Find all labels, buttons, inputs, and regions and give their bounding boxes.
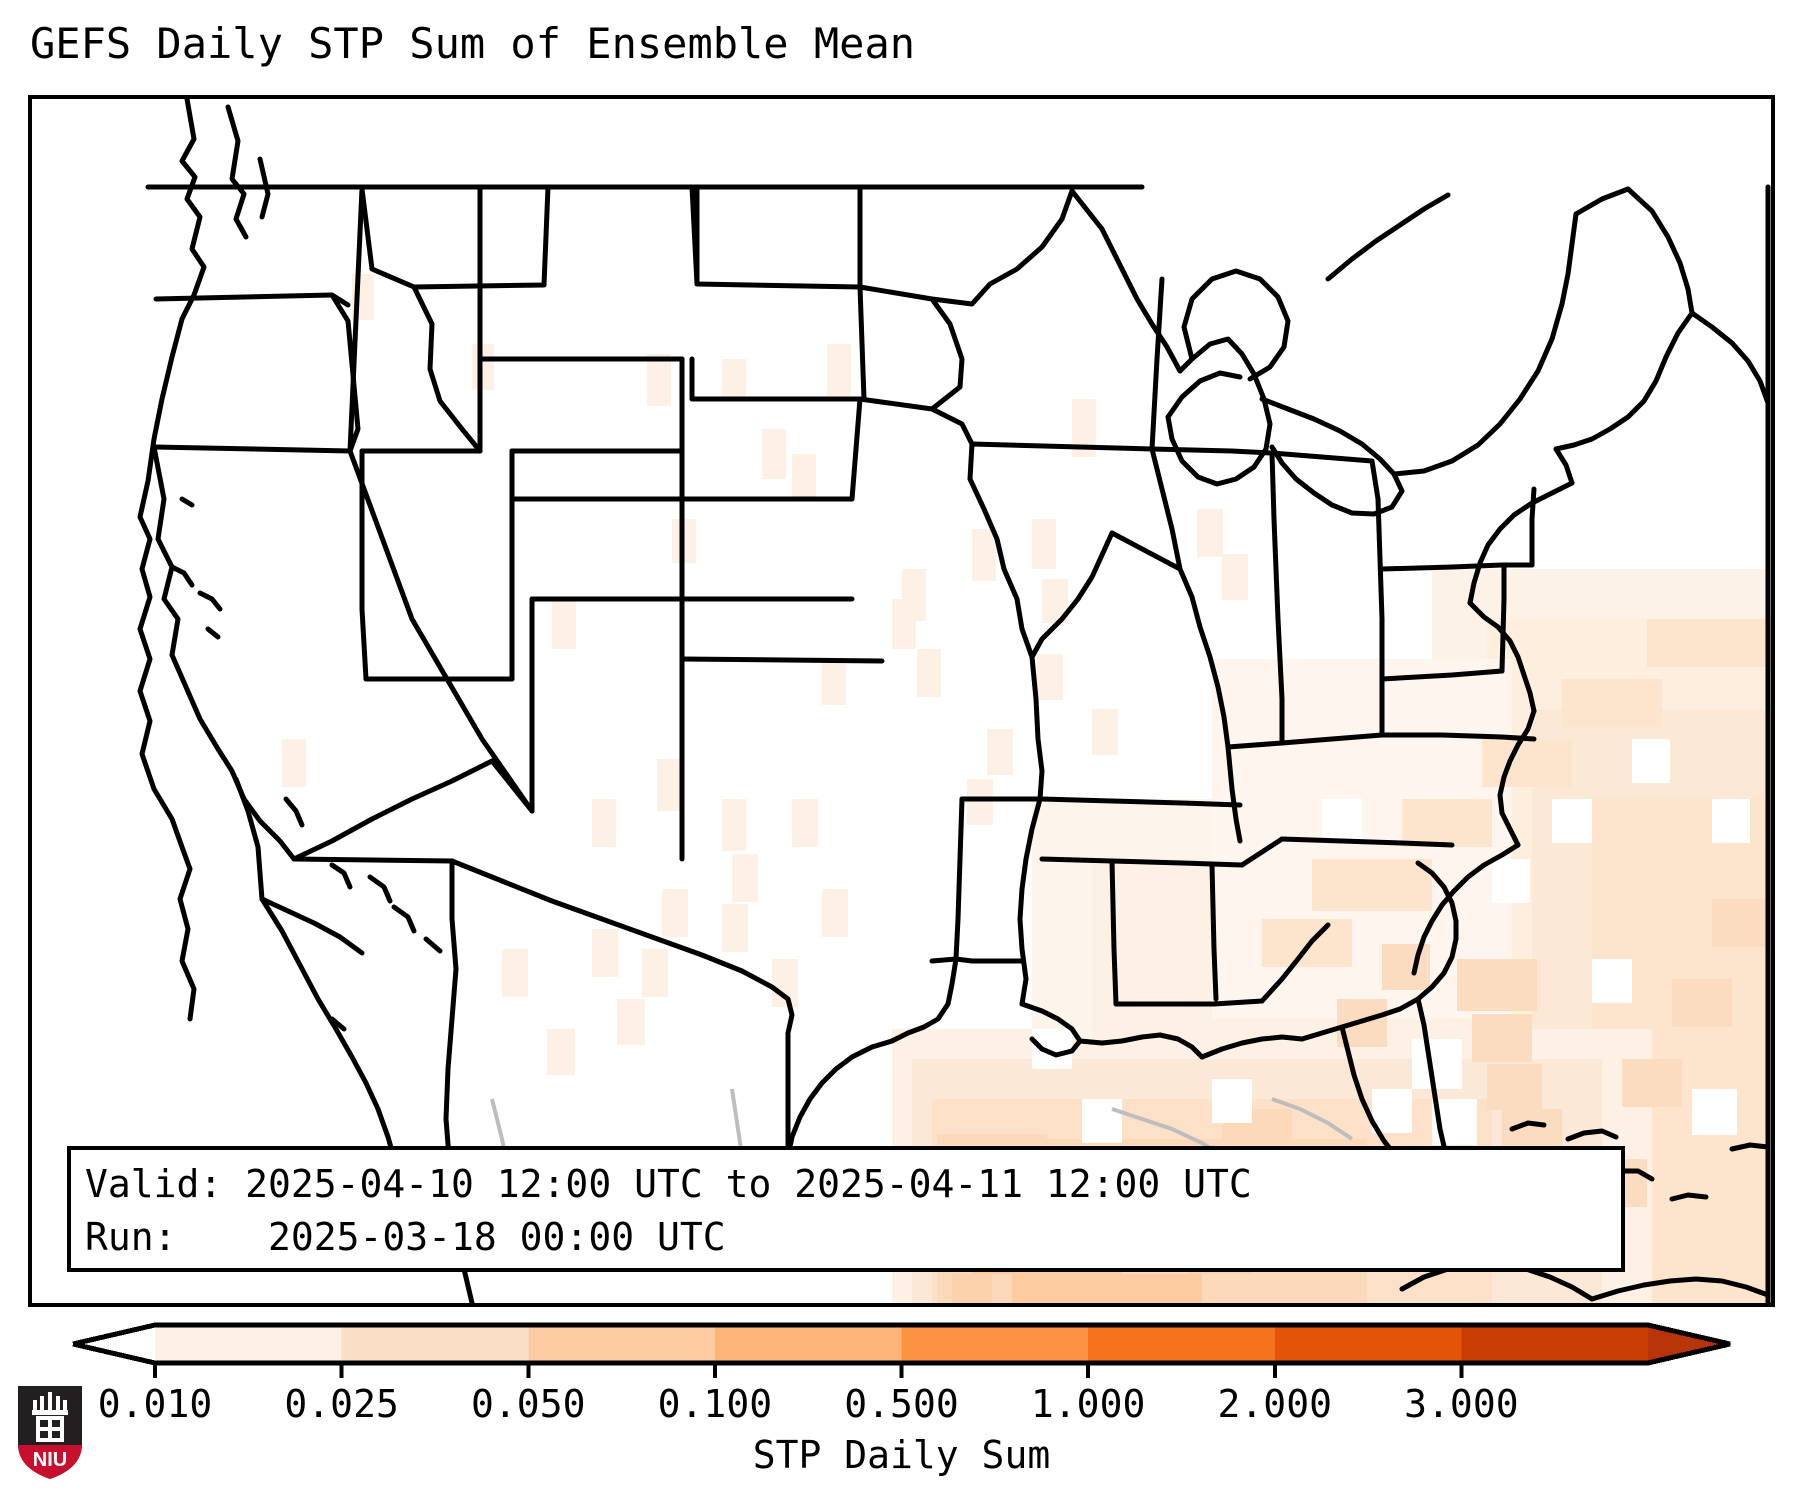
colorbar-segment (1088, 1325, 1275, 1363)
colorbar-segment (715, 1325, 902, 1363)
colorbar-segments (155, 1325, 1649, 1363)
colorbar-tick-label: 0.100 (658, 1382, 772, 1426)
colorbar-tick-label: 1.000 (1031, 1382, 1145, 1426)
run-time-line: Run: 2025-03-18 00:00 UTC (85, 1211, 1621, 1264)
colorbar-under-arrow (73, 1325, 155, 1363)
colorbar-tick-label: 0.500 (844, 1382, 958, 1426)
colorbar-tick-label: 0.050 (471, 1382, 585, 1426)
colorbar-segment (902, 1325, 1089, 1363)
colorbar-tick-label: 0.025 (284, 1382, 398, 1426)
colorbar-segment (528, 1325, 715, 1363)
niu-logo-text: NIU (33, 1449, 67, 1471)
map-underlay-faint-outlines (32, 99, 1771, 1303)
colorbar[interactable] (0, 1318, 1803, 1378)
page-title: GEFS Daily STP Sum of Ensemble Mean (30, 20, 915, 68)
colorbar-tick-labels: 0.0100.0250.0500.1000.5001.0002.0003.000 (0, 1382, 1803, 1430)
colorbar-segment (1461, 1325, 1648, 1363)
colorbar-tick-label: 0.010 (98, 1382, 212, 1426)
colorbar-segment (342, 1325, 529, 1363)
map-panel (28, 95, 1775, 1307)
colorbar-tick-label: 2.000 (1218, 1382, 1332, 1426)
niu-logo: NIU (14, 1382, 86, 1482)
colorbar-segment (155, 1325, 342, 1363)
colorbar-axis-label: STP Daily Sum (0, 1432, 1803, 1478)
valid-run-annotation-box: Valid: 2025-04-10 12:00 UTC to 2025-04-1… (67, 1146, 1625, 1272)
colorbar-segment (1275, 1325, 1462, 1363)
colorbar-over-arrow (1648, 1325, 1730, 1363)
colorbar-tick-label: 3.000 (1404, 1382, 1518, 1426)
valid-time-line: Valid: 2025-04-10 12:00 UTC to 2025-04-1… (85, 1158, 1621, 1211)
